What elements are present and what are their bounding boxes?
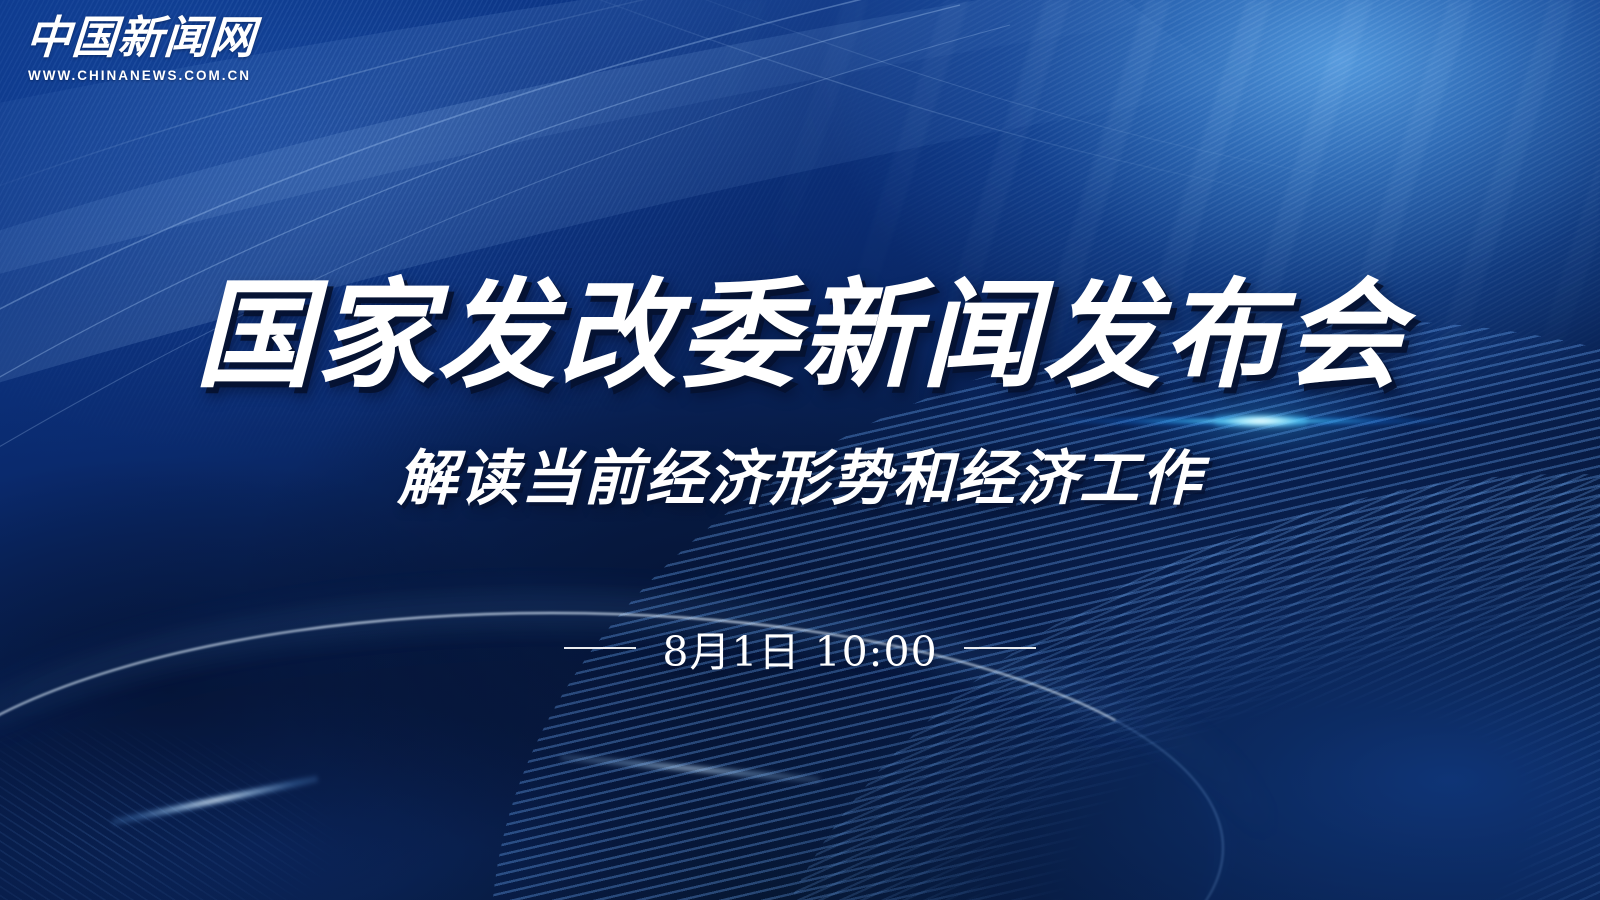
broadcast-poster: 中国新闻网 WWW.CHINANEWS.COM.CN 国家发改委新闻发布会 解读… <box>0 0 1600 900</box>
chinanews-logo[interactable]: 中国新闻网 WWW.CHINANEWS.COM.CN <box>26 14 236 83</box>
title-flare-core <box>1215 414 1307 428</box>
logo-url: WWW.CHINANEWS.COM.CN <box>28 68 236 83</box>
logo-wordmark: 中国新闻网 <box>24 14 237 61</box>
